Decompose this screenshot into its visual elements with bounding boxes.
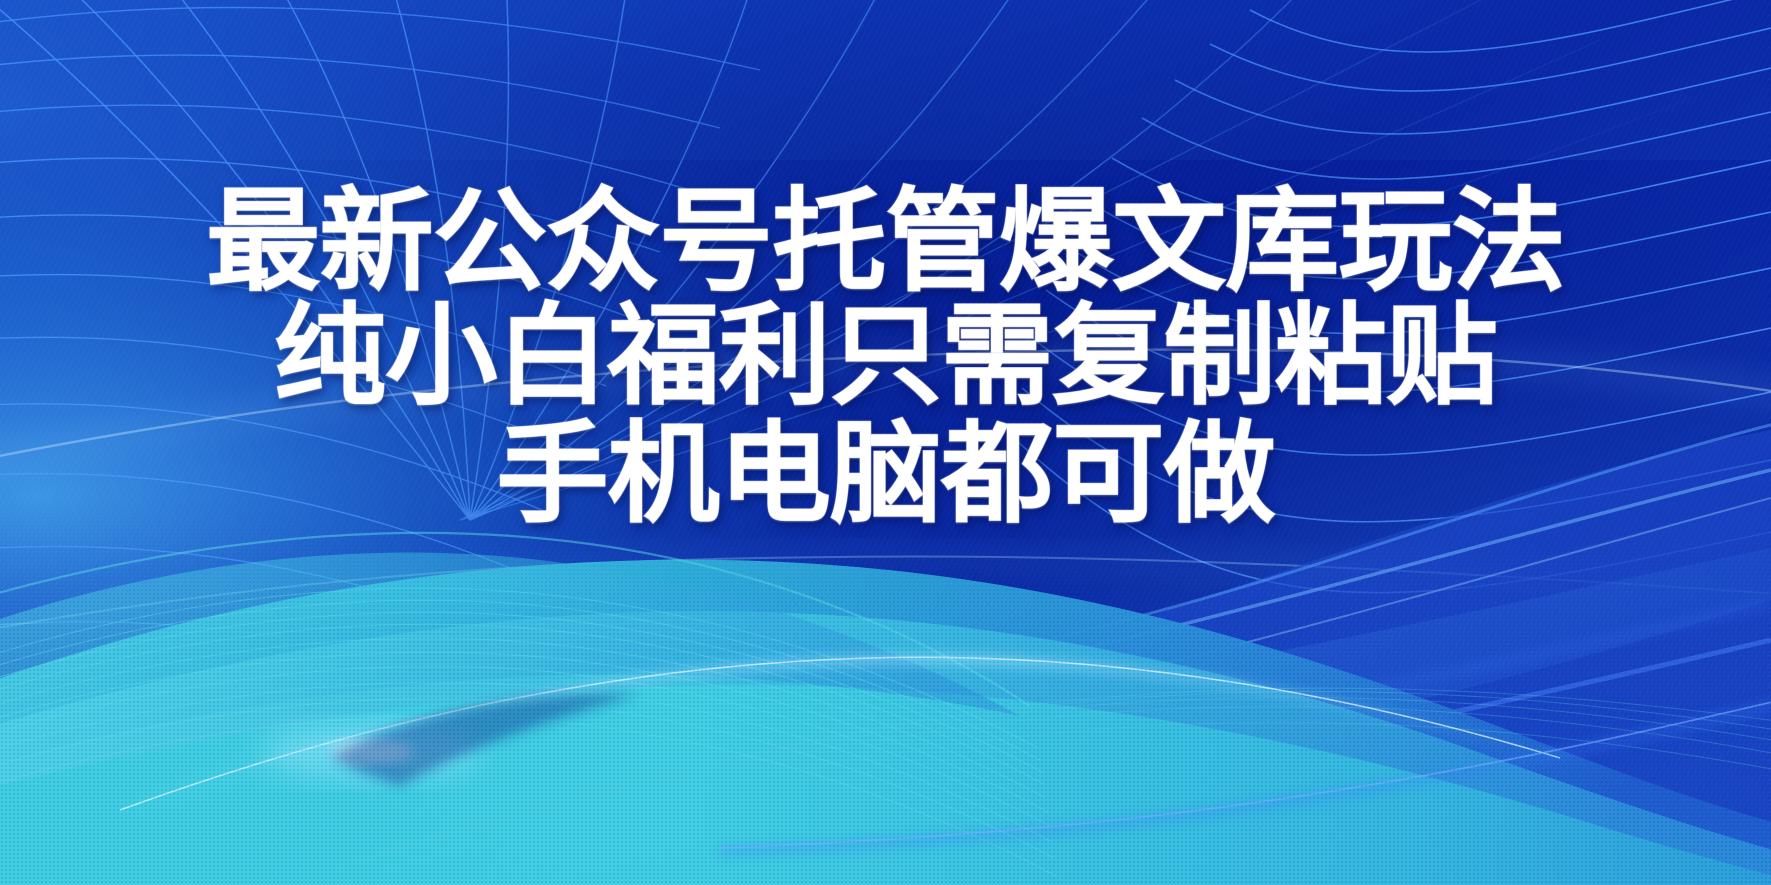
promo-banner: 最新公众号托管爆文库玩法 纯小白福利只需复制粘贴 手机电脑都可做 [0,0,1771,885]
headline-line-3: 手机电脑都可做 [0,416,1771,534]
headline-line-1: 最新公众号托管爆文库玩法 [0,186,1771,298]
ribbon-soft-mid-right [300,548,1771,785]
blue-edge-streak-right [720,686,1771,852]
wave-cyan-main [0,560,1771,885]
wave-line-texture-right [300,688,1771,885]
headline-line-2: 纯小白福利只需复制粘贴 [0,298,1771,416]
light-streak-left-lower [0,557,1771,640]
wave-line-texture-left [0,588,1056,876]
wave-dark-notch [330,694,640,786]
wave-crest-glow [120,657,1560,812]
wave-cyan-left-lobe [0,533,1030,782]
headline-block: 最新公众号托管爆文库玩法 纯小白福利只需复制粘贴 手机电脑都可做 [0,186,1771,534]
